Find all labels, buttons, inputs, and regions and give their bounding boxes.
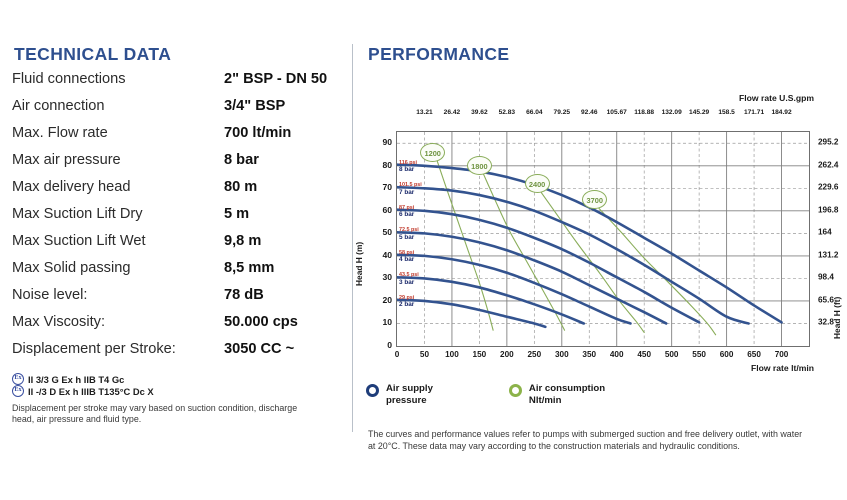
left-tick-label: 40 — [382, 250, 392, 260]
performance-note: The curves and performance values refer … — [368, 429, 810, 452]
pressure-label: 29 psi2 bar — [399, 295, 414, 309]
pressure-label: 72.5 psi5 bar — [399, 227, 419, 241]
curves-svg — [397, 132, 809, 346]
top-tick-label: 26.42 — [444, 109, 461, 116]
bottom-tick-label: 100 — [445, 350, 459, 359]
legend-item: Air consumptionNlt/min — [509, 383, 605, 406]
top-tick-label: 118.88 — [634, 109, 654, 116]
right-tick-label: 295.2 — [818, 138, 839, 147]
spec-value: 2" BSP - DN 50 — [224, 71, 327, 87]
atex-marking: ExII -/3 D Ex h IIIB T135°C Dc X — [12, 385, 342, 397]
pressure-bar: 4 bar — [399, 256, 414, 263]
left-tick-label: 90 — [382, 137, 392, 147]
pressure-label: 87 psi6 bar — [399, 205, 414, 219]
pressure-bar: 6 bar — [399, 211, 414, 218]
top-tick-label: 184.92 — [771, 109, 791, 116]
legend-label-line2: Nlt/min — [529, 395, 605, 407]
pressure-curve — [397, 300, 545, 327]
spec-row: Max Suction Lift Wet9,8 m — [12, 233, 342, 260]
spec-label: Air connection — [12, 98, 224, 114]
pressure-label: 101.5 psi7 bar — [399, 182, 422, 196]
pressure-label: 116 psi8 bar — [399, 160, 417, 174]
spec-label: Displacement per Stroke: — [12, 341, 224, 357]
pressure-psi: 43.5 psi — [399, 272, 419, 278]
left-tick-label: 60 — [382, 205, 392, 215]
legend-marker-icon — [366, 384, 379, 397]
spec-value: 50.000 cps — [224, 314, 298, 330]
spec-label: Max air pressure — [12, 152, 224, 168]
spec-label: Fluid connections — [12, 71, 224, 87]
chart-legend: Air supplypressureAir consumptionNlt/min — [366, 383, 605, 406]
bottom-tick-label: 500 — [665, 350, 679, 359]
spec-value: 80 m — [224, 179, 257, 195]
displacement-note: Displacement per stroke may vary based o… — [12, 403, 312, 426]
spec-label: Noise level: — [12, 287, 224, 303]
pressure-bar: 8 bar — [399, 166, 417, 173]
spec-row: Max Viscosity:50.000 cps — [12, 314, 342, 341]
spec-label: Max Solid passing — [12, 260, 224, 276]
spec-value: 3050 CC ~ — [224, 341, 294, 357]
legend-marker-icon — [509, 384, 522, 397]
pressure-label: 58 psi4 bar — [399, 250, 414, 264]
pressure-psi: 72.5 psi — [399, 227, 419, 233]
air-consumption-bubble: 1200 — [420, 143, 445, 162]
bottom-tick-label: 50 — [420, 350, 429, 359]
top-tick-label: 13.21 — [416, 109, 433, 116]
spec-row: Fluid connections2" BSP - DN 50 — [12, 71, 342, 98]
spec-label: Max Suction Lift Dry — [12, 206, 224, 222]
top-tick-label: 92.46 — [581, 109, 598, 116]
bottom-axis-title: Flow rate lt/min — [751, 363, 814, 373]
bottom-axis-ticks: 0501001502002503003504004505005506006507… — [396, 350, 810, 362]
plot-area: 116 psi8 bar101.5 psi7 bar87 psi6 bar72.… — [396, 131, 810, 347]
top-axis-title: Flow rate U.S.gpm — [739, 93, 814, 103]
spec-row: Max. Flow rate700 lt/min — [12, 125, 342, 152]
bottom-tick-label: 700 — [775, 350, 789, 359]
bottom-tick-label: 150 — [473, 350, 487, 359]
bottom-tick-label: 400 — [610, 350, 624, 359]
top-axis-ticks: 13.2126.4239.6252.8366.0479.2592.46105.6… — [396, 109, 810, 121]
bottom-tick-label: 300 — [555, 350, 569, 359]
spec-label: Max Suction Lift Wet — [12, 233, 224, 249]
right-tick-label: 196.8 — [818, 205, 839, 214]
right-tick-label: 262.4 — [818, 160, 839, 169]
legend-label-line1: Air consumption — [529, 383, 605, 395]
left-tick-label: 10 — [382, 317, 392, 327]
pressure-psi: 101.5 psi — [399, 182, 422, 188]
top-tick-label: 52.83 — [499, 109, 516, 116]
atex-ex-icon: Ex — [12, 385, 24, 397]
technical-data-panel: TECHNICAL DATA Fluid connections2" BSP -… — [12, 44, 342, 426]
spec-row: Noise level:78 dB — [12, 287, 342, 314]
right-tick-label: 229.6 — [818, 183, 839, 192]
atex-marking: ExII 3/3 G Ex h IIB T4 Gc — [12, 373, 342, 385]
top-tick-label: 145.29 — [689, 109, 709, 116]
top-tick-label: 66.04 — [526, 109, 543, 116]
atex-text: II 3/3 G Ex h IIB T4 Gc — [28, 374, 124, 385]
legend-label: Air supplypressure — [386, 383, 433, 406]
left-tick-label: 0 — [387, 340, 392, 350]
left-tick-label: 30 — [382, 272, 392, 282]
legend-label: Air consumptionNlt/min — [529, 383, 605, 406]
spec-value: 8,5 mm — [224, 260, 274, 276]
legend-item: Air supplypressure — [366, 383, 433, 406]
performance-title: PERFORMANCE — [368, 44, 836, 65]
top-tick-label: 79.25 — [554, 109, 571, 116]
top-tick-label: 132.09 — [662, 109, 682, 116]
legend-label-line1: Air supply — [386, 383, 433, 395]
section-divider — [352, 44, 353, 432]
top-tick-label: 171.71 — [744, 109, 764, 116]
atex-ex-icon: Ex — [12, 373, 24, 385]
top-tick-label: 39.62 — [471, 109, 488, 116]
bottom-tick-label: 0 — [395, 350, 400, 359]
pressure-bar: 5 bar — [399, 234, 419, 241]
performance-panel: PERFORMANCE Flow rate U.S.gpm 13.2126.42… — [366, 44, 836, 371]
bottom-tick-label: 550 — [692, 350, 706, 359]
bottom-tick-label: 650 — [747, 350, 761, 359]
bottom-tick-label: 450 — [637, 350, 651, 359]
spec-value: 9,8 m — [224, 233, 261, 249]
spec-label: Max. Flow rate — [12, 125, 224, 141]
spec-value: 5 m — [224, 206, 249, 222]
pressure-bar: 7 bar — [399, 189, 422, 196]
bottom-tick-label: 350 — [582, 350, 596, 359]
left-tick-label: 20 — [382, 295, 392, 305]
technical-data-title: TECHNICAL DATA — [14, 44, 342, 65]
datasheet-page: TECHNICAL DATA Fluid connections2" BSP -… — [0, 0, 847, 500]
pressure-curve — [397, 232, 666, 323]
spec-list: Fluid connections2" BSP - DN 50Air conne… — [12, 71, 342, 368]
air-consumption-bubble: 2400 — [525, 174, 550, 193]
bottom-tick-label: 200 — [500, 350, 514, 359]
spec-value: 700 lt/min — [224, 125, 291, 141]
top-tick-label: 158.5 — [718, 109, 735, 116]
spec-row: Displacement per Stroke:3050 CC ~ — [12, 341, 342, 368]
performance-chart: Flow rate U.S.gpm 13.2126.4239.6252.8366… — [366, 71, 836, 371]
left-tick-label: 80 — [382, 160, 392, 170]
spec-label: Max delivery head — [12, 179, 224, 195]
atex-text: II -/3 D Ex h IIIB T135°C Dc X — [28, 386, 154, 397]
spec-value: 78 dB — [224, 287, 264, 303]
spec-label: Max Viscosity: — [12, 314, 224, 330]
pressure-label: 43.5 psi3 bar — [399, 272, 419, 286]
spec-row: Max delivery head80 m — [12, 179, 342, 206]
top-tick-label: 105.67 — [607, 109, 627, 116]
right-tick-label: 131.2 — [818, 250, 839, 259]
spec-row: Air connection3/4" BSP — [12, 98, 342, 125]
spec-value: 3/4" BSP — [224, 98, 285, 114]
bottom-tick-label: 600 — [720, 350, 734, 359]
left-tick-label: 50 — [382, 227, 392, 237]
pressure-bar: 2 bar — [399, 301, 414, 308]
pressure-bar: 3 bar — [399, 279, 419, 286]
right-axis-ticks: 32.865.698.4131.2164196.8229.6262.4295.2 — [814, 126, 847, 356]
atex-marking-list: ExII 3/3 G Ex h IIB T4 GcExII -/3 D Ex h… — [12, 373, 342, 397]
right-axis-title: Head H (ft) — [832, 297, 842, 339]
spec-value: 8 bar — [224, 152, 259, 168]
right-tick-label: 164 — [818, 228, 832, 237]
left-tick-label: 70 — [382, 182, 392, 192]
bottom-tick-label: 250 — [527, 350, 541, 359]
left-axis-title: Head H (m) — [354, 242, 364, 286]
spec-row: Max air pressure8 bar — [12, 152, 342, 179]
left-axis-ticks: 0102030405060708090 — [366, 126, 394, 356]
right-tick-label: 98.4 — [818, 273, 834, 282]
spec-row: Max Solid passing8,5 mm — [12, 260, 342, 287]
spec-row: Max Suction Lift Dry5 m — [12, 206, 342, 233]
legend-label-line2: pressure — [386, 395, 433, 407]
